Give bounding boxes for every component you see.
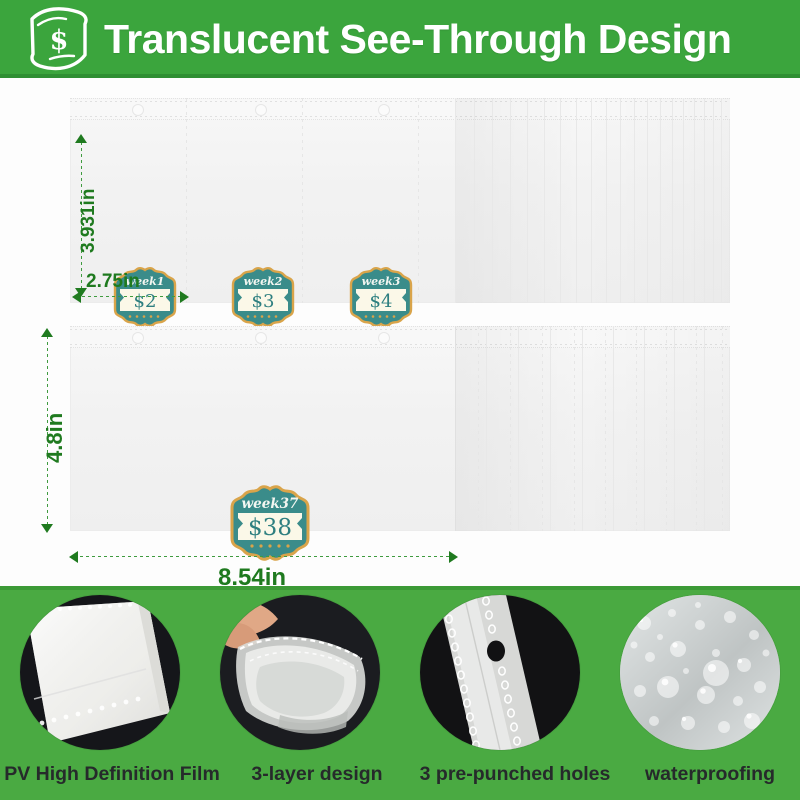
sheet-edge <box>647 98 648 303</box>
dimension-arrow-right <box>449 551 458 563</box>
pocket-fold <box>666 326 667 531</box>
punch-hole <box>132 104 144 116</box>
pocket-fold <box>636 326 637 531</box>
page-title: Translucent See-Through Design <box>104 16 731 63</box>
feature-caption-0: PV High Definition Film <box>0 763 224 786</box>
punched-holes-strip-photo <box>420 595 580 750</box>
sheet-edge <box>660 98 661 303</box>
dimension-label-top-height: 3.931in <box>78 189 100 253</box>
sheet-edge <box>644 326 645 531</box>
water-droplets-photo <box>620 595 780 750</box>
sheet-edge <box>634 98 635 303</box>
money-bill-icon: $ <box>22 5 96 73</box>
sheet-edge <box>582 326 583 531</box>
feature-caption-2: 3 pre-punched holes <box>410 763 620 786</box>
sheet-edge <box>527 98 528 303</box>
pocket-fold <box>478 326 479 531</box>
sheet-edge <box>704 98 705 303</box>
feature-thumbnails-row <box>0 592 800 752</box>
sheet-edge <box>550 326 551 531</box>
sheet-edge <box>713 98 714 303</box>
sheet-edge <box>694 98 695 303</box>
pocket-fold <box>186 98 187 303</box>
dimension-arrow-left <box>72 291 81 303</box>
sheet-edge <box>576 98 577 303</box>
sheet-edge <box>455 98 456 303</box>
svg-text:$38: $38 <box>248 515 292 541</box>
pocket-fold <box>542 326 543 531</box>
punch-hole <box>132 332 144 344</box>
feature-caption-1: 3-layer design <box>224 763 410 786</box>
week-badge: week3 $4 week3 $4 <box>343 263 419 328</box>
week-badge: week2 $3 week2 $3 <box>225 263 301 328</box>
dimension-line-top-width <box>82 296 182 297</box>
sheet-edge <box>560 98 561 303</box>
svg-text:$: $ <box>50 25 69 56</box>
dimension-arrow-up <box>41 328 53 337</box>
svg-text:$2: $2 <box>134 291 157 312</box>
sheet-edge <box>721 98 722 303</box>
week-badge: week37 $38 week37 $38 <box>222 480 318 562</box>
dimension-line-bottom-width <box>80 556 450 557</box>
white-film-sheet-photo <box>20 595 180 750</box>
sheet-edge <box>518 326 519 531</box>
sheet-edge <box>672 98 673 303</box>
sheet-edge <box>474 98 475 303</box>
sheet-edge <box>492 98 493 303</box>
feature-band: PV High Definition Film 3-layer design 3… <box>0 586 800 800</box>
pocket-fold <box>722 326 723 531</box>
sheet-edge <box>613 326 614 531</box>
dimension-label-bottom-height: 4.8in <box>42 413 68 463</box>
punch-hole <box>255 104 267 116</box>
pocket-fold <box>302 98 303 303</box>
feature-thumb-3[interactable] <box>620 595 780 750</box>
dimension-arrow-left <box>69 551 78 563</box>
sheet-edge <box>544 98 545 303</box>
punch-hole <box>378 332 390 344</box>
feature-captions-row: PV High Definition Film 3-layer design 3… <box>0 754 800 794</box>
feature-caption-3: waterproofing <box>620 763 800 786</box>
product-illustration-area: week1 $2 week1 $2 week2 $3 <box>0 78 800 586</box>
pocket-fold <box>605 326 606 531</box>
feature-thumb-0[interactable] <box>20 595 180 750</box>
sheet-edge <box>486 326 487 531</box>
header-banner: $ Translucent See-Through Design <box>0 0 800 78</box>
budget-binder-sheet-bottom <box>70 326 730 531</box>
dimension-arrow-right <box>180 291 189 303</box>
sheet-edge <box>510 98 511 303</box>
pocket-fold <box>510 326 511 531</box>
stacked-sheets-shade <box>455 326 730 531</box>
svg-text:$4: $4 <box>370 291 393 312</box>
punch-hole <box>378 104 390 116</box>
punch-hole <box>255 332 267 344</box>
infographic-page: $ Translucent See-Through Design <box>0 0 800 800</box>
sheet-edge <box>674 326 675 531</box>
svg-text:week37: week37 <box>242 496 300 512</box>
sheet-edge <box>620 98 621 303</box>
feature-thumb-1[interactable] <box>220 595 380 750</box>
sheet-edge <box>591 98 592 303</box>
svg-text:$3: $3 <box>252 291 275 312</box>
hand-holding-pouch-photo <box>220 595 380 750</box>
dimension-arrow-up <box>75 134 87 143</box>
feature-thumb-2[interactable] <box>420 595 580 750</box>
sheet-edge <box>704 326 705 531</box>
dimension-label-top-width: 2.75in <box>86 271 140 293</box>
stacked-sheets-shade <box>455 98 730 303</box>
pocket-fold <box>696 326 697 531</box>
sheet-edge <box>683 98 684 303</box>
sheet-edge <box>606 98 607 303</box>
pocket-fold <box>574 326 575 531</box>
dimension-arrow-down <box>41 524 53 533</box>
svg-text:week3: week3 <box>362 275 401 288</box>
svg-text:week2: week2 <box>244 275 283 288</box>
